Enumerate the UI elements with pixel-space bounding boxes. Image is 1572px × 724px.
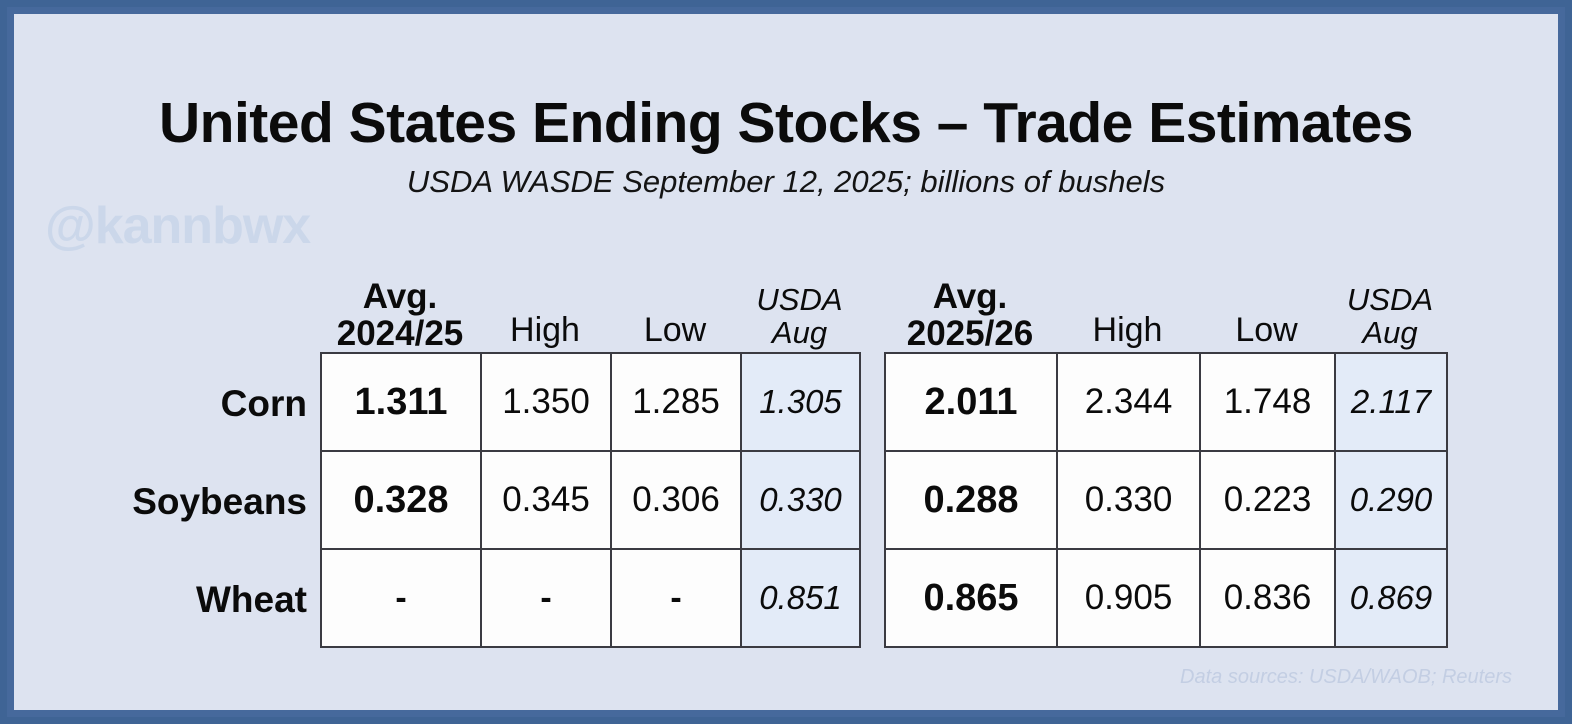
table-2025-26-header: Avg. 2025/26 High Low USDA Aug <box>884 243 1446 352</box>
data-sources-note: Data sources: USDA/WAOB; Reuters <box>1180 666 1512 689</box>
row-label-column: Corn Soybeans Wheat <box>7 243 313 653</box>
row-label-soybeans: Soybeans <box>7 481 307 523</box>
tables-area: Corn Soybeans Wheat Avg. 2024/25 High Lo… <box>7 243 1565 653</box>
table-2024-25-header: Avg. 2024/25 High Low USDA Aug <box>320 243 859 352</box>
cell-soybeans-usda-2025-26: 0.290 <box>1335 451 1447 549</box>
cell-corn-avg-2024-25: 1.311 <box>321 353 481 451</box>
cell-corn-avg-2025-26: 2.011 <box>885 353 1057 451</box>
header-low-2024-25: Low <box>610 312 740 352</box>
cell-corn-usda-2024-25: 1.305 <box>741 353 860 451</box>
table-row: 0.288 0.330 0.223 0.290 <box>885 451 1447 549</box>
cell-soybeans-avg-2025-26: 0.288 <box>885 451 1057 549</box>
header-high-2025-26: High <box>1056 312 1199 352</box>
cell-soybeans-low-2024-25: 0.306 <box>611 451 741 549</box>
header-usda-aug-2024-25: USDA Aug <box>740 284 859 352</box>
page-subtitle: USDA WASDE September 12, 2025; billions … <box>7 164 1565 200</box>
header-avg-2025-26: Avg. 2025/26 <box>884 278 1056 352</box>
row-label-corn: Corn <box>7 383 307 425</box>
cell-wheat-usda-2024-25: 0.851 <box>741 549 860 647</box>
cell-soybeans-high-2025-26: 0.330 <box>1057 451 1200 549</box>
cell-corn-usda-2025-26: 2.117 <box>1335 353 1447 451</box>
table-2024-25-grid: 1.311 1.350 1.285 1.305 0.328 0.345 0.30… <box>320 352 861 648</box>
header-usda-aug-2025-26: USDA Aug <box>1334 284 1446 352</box>
cell-wheat-high-2024-25: - <box>481 549 611 647</box>
table-row: 0.328 0.345 0.306 0.330 <box>321 451 860 549</box>
cell-soybeans-high-2024-25: 0.345 <box>481 451 611 549</box>
cell-soybeans-avg-2024-25: 0.328 <box>321 451 481 549</box>
table-row: - - - 0.851 <box>321 549 860 647</box>
page-title: United States Ending Stocks – Trade Esti… <box>7 90 1565 156</box>
row-label-wheat: Wheat <box>7 579 307 621</box>
cell-soybeans-low-2025-26: 0.223 <box>1200 451 1335 549</box>
cell-corn-low-2025-26: 1.748 <box>1200 353 1335 451</box>
infographic-card: @kannbwx United States Ending Stocks – T… <box>7 7 1565 717</box>
header-avg-2024-25: Avg. 2024/25 <box>320 278 480 352</box>
header-high-2024-25: High <box>480 312 610 352</box>
cell-wheat-usda-2025-26: 0.869 <box>1335 549 1447 647</box>
cell-wheat-avg-2025-26: 0.865 <box>885 549 1057 647</box>
header-low-2025-26: Low <box>1199 312 1334 352</box>
cell-corn-high-2024-25: 1.350 <box>481 353 611 451</box>
cell-wheat-low-2024-25: - <box>611 549 741 647</box>
cell-corn-high-2025-26: 2.344 <box>1057 353 1200 451</box>
cell-wheat-avg-2024-25: - <box>321 549 481 647</box>
table-row: 2.011 2.344 1.748 2.117 <box>885 353 1447 451</box>
cell-wheat-low-2025-26: 0.836 <box>1200 549 1335 647</box>
table-2024-25: Avg. 2024/25 High Low USDA Aug 1.311 1.3 <box>320 243 859 648</box>
table-row: 1.311 1.350 1.285 1.305 <box>321 353 860 451</box>
table-2025-26-grid: 2.011 2.344 1.748 2.117 0.288 0.330 0.22… <box>884 352 1448 648</box>
table-row: 0.865 0.905 0.836 0.869 <box>885 549 1447 647</box>
table-2025-26: Avg. 2025/26 High Low USDA Aug 2.011 2.3 <box>884 243 1446 648</box>
cell-soybeans-usda-2024-25: 0.330 <box>741 451 860 549</box>
cell-corn-low-2024-25: 1.285 <box>611 353 741 451</box>
cell-wheat-high-2025-26: 0.905 <box>1057 549 1200 647</box>
